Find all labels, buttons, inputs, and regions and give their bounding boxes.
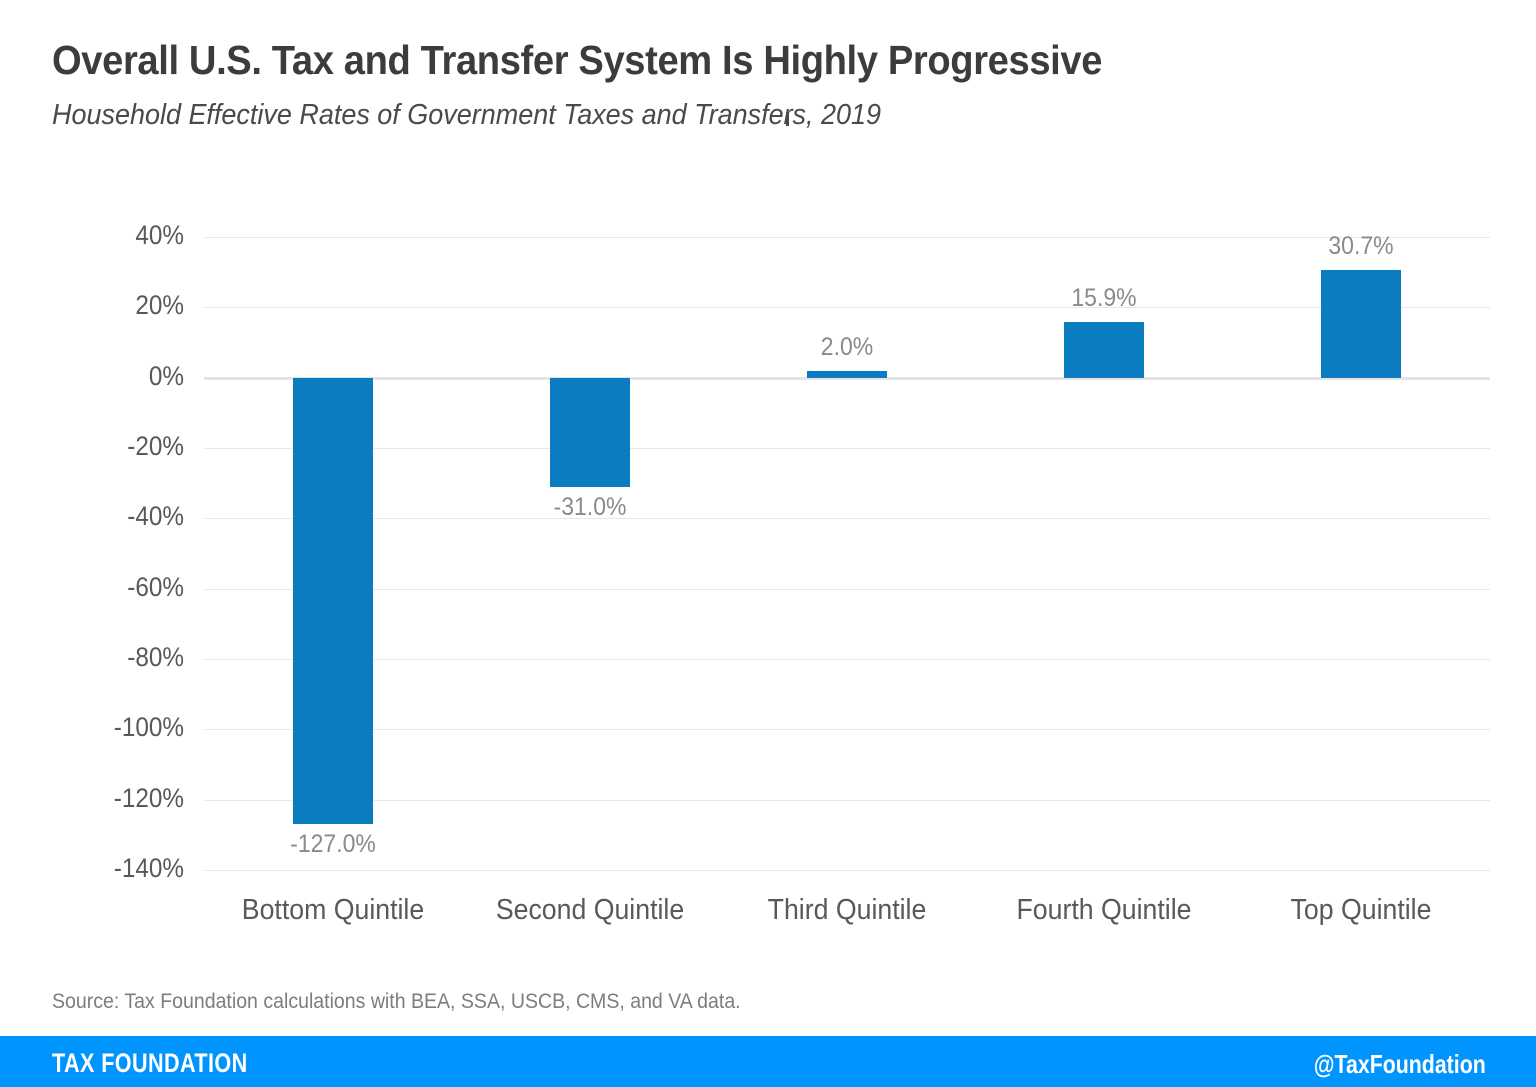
bar[interactable] [293,378,373,825]
gridline [204,307,1490,308]
y-axis-tick-label: -20% [40,431,184,462]
gridline [204,800,1490,801]
x-axis-tick-label: Fourth Quintile [985,894,1224,927]
gridline [204,870,1490,871]
gridline [204,729,1490,730]
gridline [204,659,1490,660]
bar[interactable] [550,378,630,487]
y-axis-tick-label: -40% [40,501,184,532]
bar-value-label: 30.7% [1269,232,1453,261]
x-axis-tick-label: Third Quintile [727,894,966,927]
source-note: Source: Tax Foundation calculations with… [52,990,741,1014]
gridline [204,448,1490,449]
y-axis-tick-label: 40% [40,220,184,251]
y-axis-tick-label: -100% [40,712,184,743]
bar-value-label: -31.0% [498,493,682,522]
x-axis-tick-label: Top Quintile [1242,894,1481,927]
gridline [204,589,1490,590]
bar-value-label: 15.9% [1012,284,1196,313]
x-axis-tick-label: Bottom Quintile [213,894,452,927]
chart-canvas: 40%20%0%-20%-40%-60%-80%-100%-120%-140%-… [0,0,1536,960]
y-axis-tick-label: 20% [40,290,184,321]
y-axis-tick-label: -140% [40,853,184,884]
y-axis-tick-label: -120% [40,783,184,814]
y-axis-tick-label: -80% [40,642,184,673]
y-axis-tick-label: -60% [40,572,184,603]
bar[interactable] [1064,322,1144,378]
bar-value-label: -127.0% [241,830,425,859]
footer-bar: TAX FOUNDATION @TaxFoundation [0,1036,1536,1087]
plot-area: 40%20%0%-20%-40%-60%-80%-100%-120%-140%-… [204,237,1490,870]
footer-social-handle[interactable]: @TaxFoundation [1314,1049,1486,1080]
bar[interactable] [807,371,887,378]
bar[interactable] [1321,270,1401,378]
footer-brand-label: TAX FOUNDATION [52,1048,248,1079]
gridline [204,518,1490,519]
x-axis-tick-label: Second Quintile [470,894,709,927]
bar-value-label: 2.0% [755,333,939,362]
y-axis-tick-label: 0% [40,361,184,392]
